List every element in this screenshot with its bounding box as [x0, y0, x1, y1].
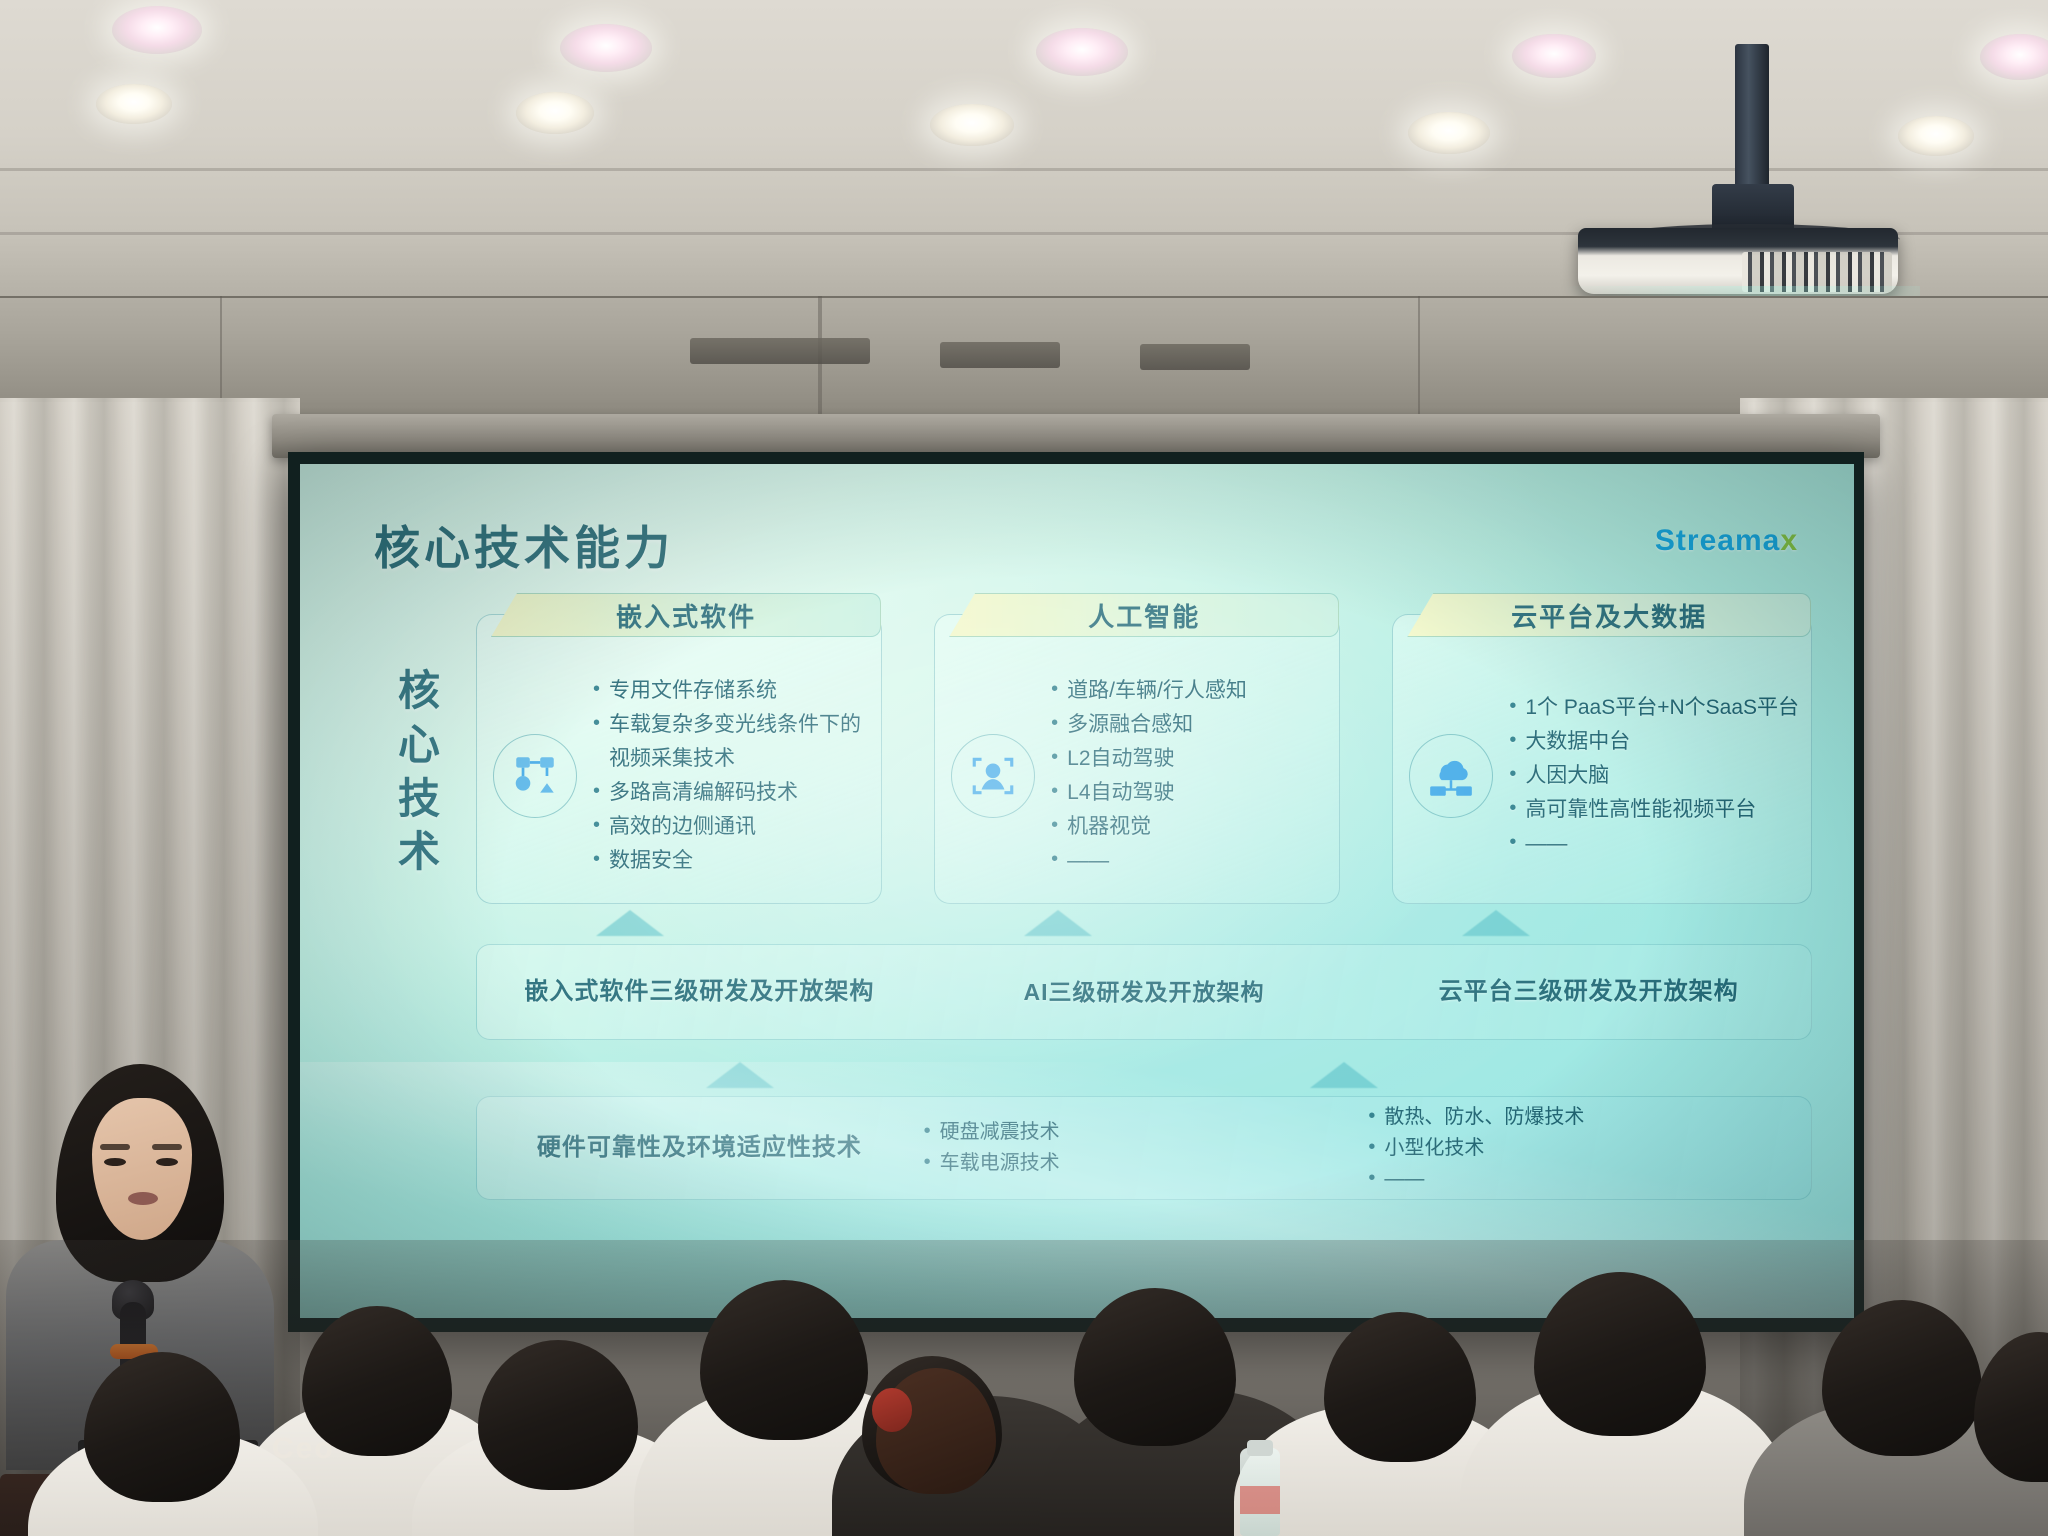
presenter-eye — [104, 1158, 126, 1166]
band-cell: AI三级研发及开放架构 — [922, 978, 1367, 1007]
photo-scene: 核心技术能力 Streamax 核 心 技 术 嵌入式软件 — [0, 0, 2048, 1536]
slide-title: 核心技术能力 — [374, 512, 674, 578]
card-bullet-list: 1个 PaaS平台+N个SaaS平台 大数据中台 人因大脑 高可靠性高性能视频平… — [1507, 691, 1799, 861]
network-nodes-icon — [493, 734, 577, 818]
list-item: 多路高清编解码技术 — [591, 776, 869, 810]
ceiling-downlight — [1408, 112, 1490, 154]
presenter-mouth — [128, 1192, 158, 1205]
rnd-architecture-band: 嵌入式软件三级研发及开放架构 AI三级研发及开放架构 云平台三级研发及开放架构 — [476, 944, 1812, 1040]
ceiling-downlight — [96, 84, 172, 124]
face-recognition-icon — [951, 734, 1035, 818]
connector-arrow — [706, 1062, 774, 1088]
list-item: 数据安全 — [591, 844, 869, 878]
card-header: 云平台及大数据 — [1407, 593, 1811, 637]
projector-mount-rod — [1735, 44, 1769, 194]
list-item: 大数据中台 — [1507, 725, 1799, 759]
ceiling-downlight — [516, 92, 594, 134]
capability-card-artificial-intelligence: 人工智能 道路/车辆/行人感知 多源融合感知 L2自动 — [934, 614, 1340, 904]
list-item: 高可靠性高性能视频平台 — [1507, 793, 1799, 827]
vertical-label-char: 术 — [384, 825, 456, 879]
list-item: 1个 PaaS平台+N个SaaS平台 — [1507, 691, 1799, 725]
list-item: 小型化技术 — [1366, 1133, 1811, 1164]
tshirt-text: Ceo — [272, 1432, 392, 1480]
list-item: —— — [1366, 1164, 1811, 1195]
hair-scrunchie — [872, 1388, 912, 1432]
list-item: L4自动驾驶 — [1049, 776, 1327, 810]
connector-arrow — [1462, 910, 1530, 936]
list-item: 车载电源技术 — [922, 1148, 1367, 1179]
ceiling-vent — [940, 342, 1060, 368]
vertical-label-char: 技 — [384, 772, 456, 826]
brand-name: Streama — [1655, 524, 1780, 557]
list-item: 硬盘减震技术 — [922, 1117, 1367, 1148]
list-item: 人因大脑 — [1507, 759, 1799, 793]
bottle-cap — [1247, 1440, 1273, 1456]
band-cell: 云平台三级研发及开放架构 — [1366, 977, 1811, 1007]
soffit-panel — [820, 296, 1420, 414]
bottom-bullets-right: 散热、防水、防爆技术 小型化技术 —— — [1366, 1102, 1811, 1195]
brand-accent: x — [1780, 524, 1798, 557]
ceiling-downlight — [1898, 116, 1974, 156]
bottle-label — [1240, 1486, 1280, 1514]
ceiling-vent — [690, 338, 870, 364]
presenter-eyebrow — [152, 1144, 182, 1150]
connector-arrow — [596, 910, 664, 936]
list-item: 高效的边侧通讯 — [591, 810, 869, 844]
list-item: 多源融合感知 — [1049, 708, 1327, 742]
vertical-label-char: 核 — [384, 664, 456, 718]
card-header: 嵌入式软件 — [491, 593, 881, 637]
ceiling-downlight — [1036, 28, 1128, 76]
list-item: 散热、防水、防爆技术 — [1366, 1102, 1811, 1133]
list-item: —— — [1507, 827, 1799, 861]
connector-arrow — [1024, 910, 1092, 936]
list-item: 车载复杂多变光线条件下的视频采集技术 — [591, 708, 869, 776]
list-item: 道路/车辆/行人感知 — [1049, 674, 1327, 708]
vertical-label-char: 心 — [384, 718, 456, 772]
vertical-section-label: 核 心 技 术 — [384, 664, 456, 879]
capability-cards-row: 嵌入式软件 专用文件存储系统 — [476, 614, 1812, 904]
presentation-slide: 核心技术能力 Streamax 核 心 技 术 嵌入式软件 — [300, 464, 1854, 1318]
band-cell: 嵌入式软件三级研发及开放架构 — [477, 977, 922, 1007]
ceiling-vent — [1140, 344, 1250, 370]
ceiling-downlight — [1512, 34, 1596, 78]
bottom-bullets-left: 硬盘减震技术 车载电源技术 — [922, 1117, 1367, 1179]
card-bullet-list: 道路/车辆/行人感知 多源融合感知 L2自动驾驶 L4自动驾驶 机器视觉 —— — [1049, 674, 1327, 878]
card-header: 人工智能 — [949, 593, 1339, 637]
list-item: —— — [1049, 844, 1327, 878]
list-item: L2自动驾驶 — [1049, 742, 1327, 776]
projection-screen: 核心技术能力 Streamax 核 心 技 术 嵌入式软件 — [288, 452, 1864, 1332]
cloud-platform-icon — [1409, 734, 1493, 818]
list-item: 机器视觉 — [1049, 810, 1327, 844]
presenter-eyebrow — [100, 1144, 130, 1150]
card-bullet-list: 专用文件存储系统 车载复杂多变光线条件下的视频采集技术 多路高清编解码技术 高效… — [591, 674, 869, 878]
capability-card-embedded-software: 嵌入式软件 专用文件存储系统 — [476, 614, 882, 904]
presenter-eye — [156, 1158, 178, 1166]
ceiling-downlight — [930, 104, 1014, 146]
ceiling-downlight — [560, 24, 652, 72]
band-cell: 硬件可靠性及环境适应性技术 — [477, 1133, 922, 1163]
list-item: 专用文件存储系统 — [591, 674, 869, 708]
connector-arrow — [1310, 1062, 1378, 1088]
capability-card-cloud-bigdata: 云平台及大数据 1个 PaaS平台+N个SaaS平台 — [1392, 614, 1812, 904]
hardware-reliability-band: 硬件可靠性及环境适应性技术 硬盘减震技术 车载电源技术 散热、防水、防爆技术 小… — [476, 1096, 1812, 1200]
streamax-logo: Streamax — [1655, 524, 1798, 558]
ceiling-downlight — [112, 6, 202, 54]
